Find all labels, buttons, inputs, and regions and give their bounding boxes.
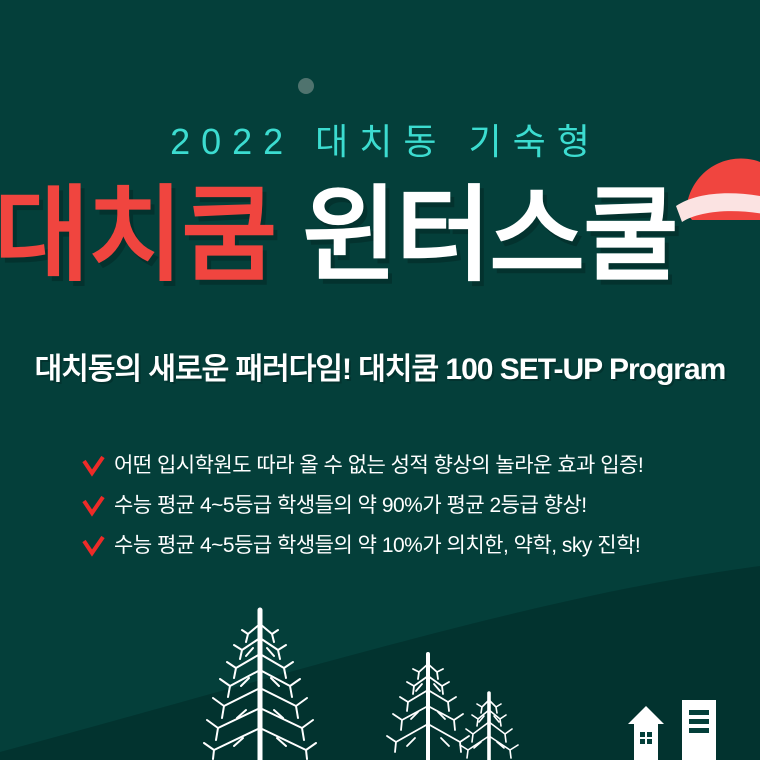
check-icon [80,533,106,559]
list-item-label: 수능 평균 4~5등급 학생들의 약 10%가 의치한, 약학, sky 진학! [114,533,640,559]
check-icon [80,493,106,519]
list-item: 어떤 입시학원도 따라 올 수 없는 성적 향상의 놀라운 효과 입증! [80,446,700,486]
title-brand: 대치쿰 [0,178,275,294]
eyebrow-text: 2022 대치동 기숙형 [0,120,760,164]
house [628,706,664,760]
buildings-group [620,700,730,760]
apartment-tower [682,700,716,760]
benefits-list: 어떤 입시학원도 따라 올 수 없는 성적 향상의 놀라운 효과 입증! 수능 … [80,446,700,566]
winter-school-promo-banner: 2022 대치동 기숙형 대치쿰 윈터스쿨 대치동의 새로운 패러다임! 대치쿰… [0,0,760,760]
page-title: 대치쿰 윈터스쿨 [0,176,760,296]
title-program: 윈터스쿨 [275,178,677,294]
list-item: 수능 평균 4~5등급 학생들의 약 10%가 의치한, 약학, sky 진학! [80,526,700,566]
pine-tree-small [446,690,532,760]
pine-tree-large [196,604,324,760]
list-item: 수능 평균 4~5등급 학생들의 약 90%가 평균 2등급 향상! [80,486,700,526]
list-item-label: 어떤 입시학원도 따라 올 수 없는 성적 향상의 놀라운 효과 입증! [114,453,643,479]
top-dot [298,78,314,94]
check-icon [80,453,106,479]
list-item-label: 수능 평균 4~5등급 학생들의 약 90%가 평균 2등급 향상! [114,493,587,519]
subtitle-text: 대치동의 새로운 패러다임! 대치쿰 100 SET-UP Program [0,350,760,390]
santa-hat-icon [668,150,760,240]
